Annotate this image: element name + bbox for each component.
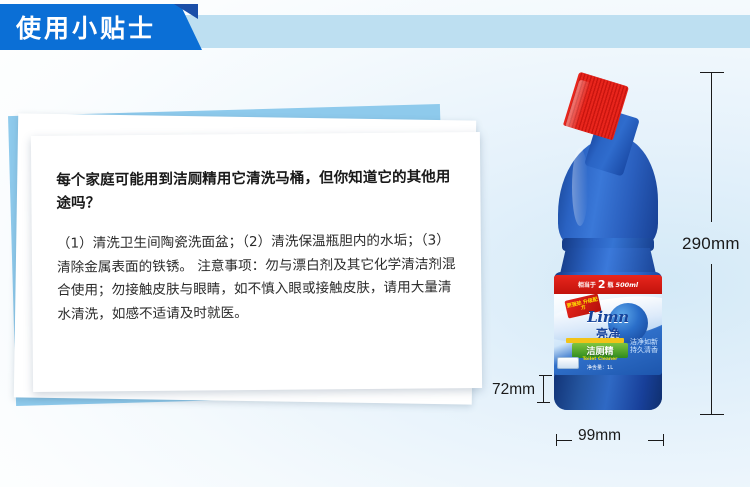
label-net-content: 净含量：1L	[574, 364, 626, 371]
label-promo-text: 相当于 2 瓶 500ml	[554, 276, 662, 293]
bottle-taper	[560, 248, 656, 274]
dimension-base-cap-top	[539, 375, 552, 376]
bottle-label: 相当于 2 瓶 500ml 更强劲 升级配方 Limn 亮净 洁厕精 Toile…	[554, 275, 662, 375]
banner-light-bar	[120, 15, 750, 48]
product-bottle-image: 相当于 2 瓶 500ml 更强劲 升级配方 Limn 亮净 洁厕精 Toile…	[548, 78, 668, 410]
label-certification-badge	[557, 357, 579, 369]
dimension-width-label: 99mm	[578, 427, 621, 445]
dimension-base-height-line	[537, 375, 551, 403]
dimension-base-segment	[543, 375, 544, 403]
label-product-type-en: Toilet Cleaner	[572, 357, 628, 362]
dimension-height-cap-bottom	[700, 414, 724, 415]
label-volume: 500ml	[616, 281, 639, 289]
dimension-width-bar-left	[556, 440, 572, 441]
tips-body: （1）清洗卫生间陶瓷洗面盆；（2）清洗保温瓶胆内的水垢；（3）清除金属表面的铁锈…	[57, 229, 458, 327]
label-promo-number: 2	[598, 279, 606, 290]
label-sparkle-note: 洁净如新 持久清香	[628, 339, 658, 361]
dimension-height-label: 290mm	[682, 234, 740, 254]
dimension-height-segment-upper	[711, 72, 712, 222]
product-tips-infographic: 使用小贴士 每个家庭可能用到洁厕精用它清洗马桶，但你知道它的其他用途吗？ （1）…	[0, 0, 750, 487]
section-banner: 使用小贴士	[0, 0, 750, 62]
dimension-width-tick-right	[663, 434, 664, 446]
label-promo-suffix: 瓶	[608, 280, 614, 289]
label-product-type-cn: 洁厕精	[572, 343, 628, 358]
banner-title: 使用小贴士	[16, 4, 156, 50]
label-brand-en: Limn	[560, 308, 656, 326]
tips-card: 每个家庭可能用到洁厕精用它清洗马桶，但你知道它的其他用途吗？ （1）清洗卫生间陶…	[31, 132, 482, 392]
label-promo-prefix: 相当于	[578, 280, 596, 289]
tips-heading: 每个家庭可能用到洁厕精用它清洗马桶，但你知道它的其他用途吗？	[56, 166, 456, 216]
dimension-height-segment-lower	[711, 264, 712, 415]
tips-card-content: 每个家庭可能用到洁厕精用它清洗马桶，但你知道它的其他用途吗？ （1）清洗卫生间陶…	[31, 132, 482, 392]
dimension-width-bar-right	[648, 440, 664, 441]
dimension-base-height-label: 72mm	[492, 381, 535, 399]
dimension-base-cap-bottom	[537, 402, 550, 403]
bottle-base	[554, 374, 662, 410]
